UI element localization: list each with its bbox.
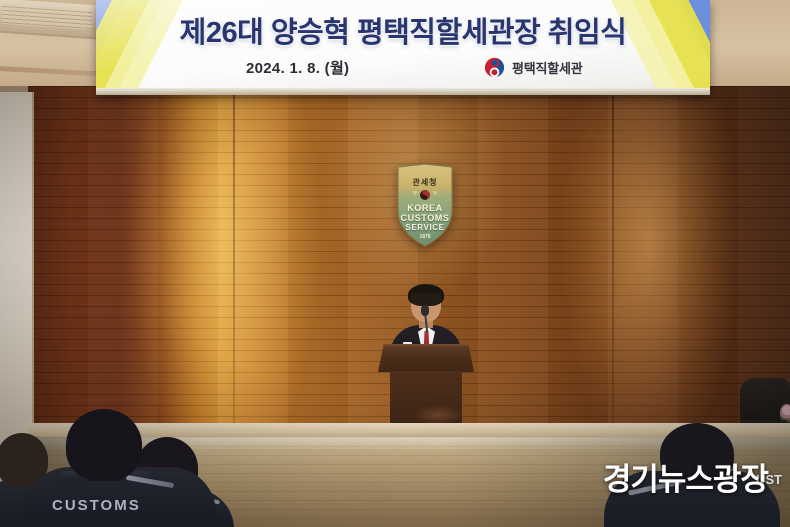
press-photo: 관세청 KOREA CUSTOMS SERVICE 1878 bbox=[0, 0, 790, 527]
speaker-hair bbox=[408, 284, 444, 306]
emblem-korean-label: 관세청 bbox=[392, 177, 458, 188]
korea-customs-service-emblem: 관세청 KOREA CUSTOMS SERVICE 1878 bbox=[392, 164, 458, 248]
podium-emblem bbox=[412, 405, 464, 425]
banner-organization: 평택직할세관 bbox=[484, 57, 583, 78]
audience-head bbox=[66, 409, 142, 481]
microphone-icon bbox=[421, 305, 429, 316]
event-banner: 제26대 양승혁 평택직할세관장 취임식 2024. 1. 8. (월) 평택직… bbox=[96, 0, 710, 95]
emblem-year: 1878 bbox=[392, 234, 458, 240]
podium-top bbox=[378, 344, 474, 372]
emblem-line-1: KOREA bbox=[392, 203, 458, 213]
banner-date: 2024. 1. 8. (월) bbox=[246, 57, 349, 78]
wall-seam-right bbox=[612, 86, 614, 456]
wall-seam-left bbox=[233, 86, 235, 456]
taegeuk-government-logo-icon bbox=[484, 57, 505, 78]
emblem-line-3: SERVICE bbox=[392, 223, 458, 232]
uniform-customs-text: CUSTOMS bbox=[52, 497, 141, 514]
watermark: 경기뉴스광장 bbox=[603, 454, 768, 499]
audience-member-left-customs: CUSTOMS bbox=[30, 409, 206, 527]
ceiling-air-vent-icon bbox=[0, 0, 102, 40]
banner-organization-name: 평택직할세관 bbox=[512, 58, 583, 77]
emblem-line-2: CUSTOMS bbox=[392, 213, 458, 223]
banner-title: 제26대 양승혁 평택직할세관장 취임식 bbox=[96, 9, 710, 51]
